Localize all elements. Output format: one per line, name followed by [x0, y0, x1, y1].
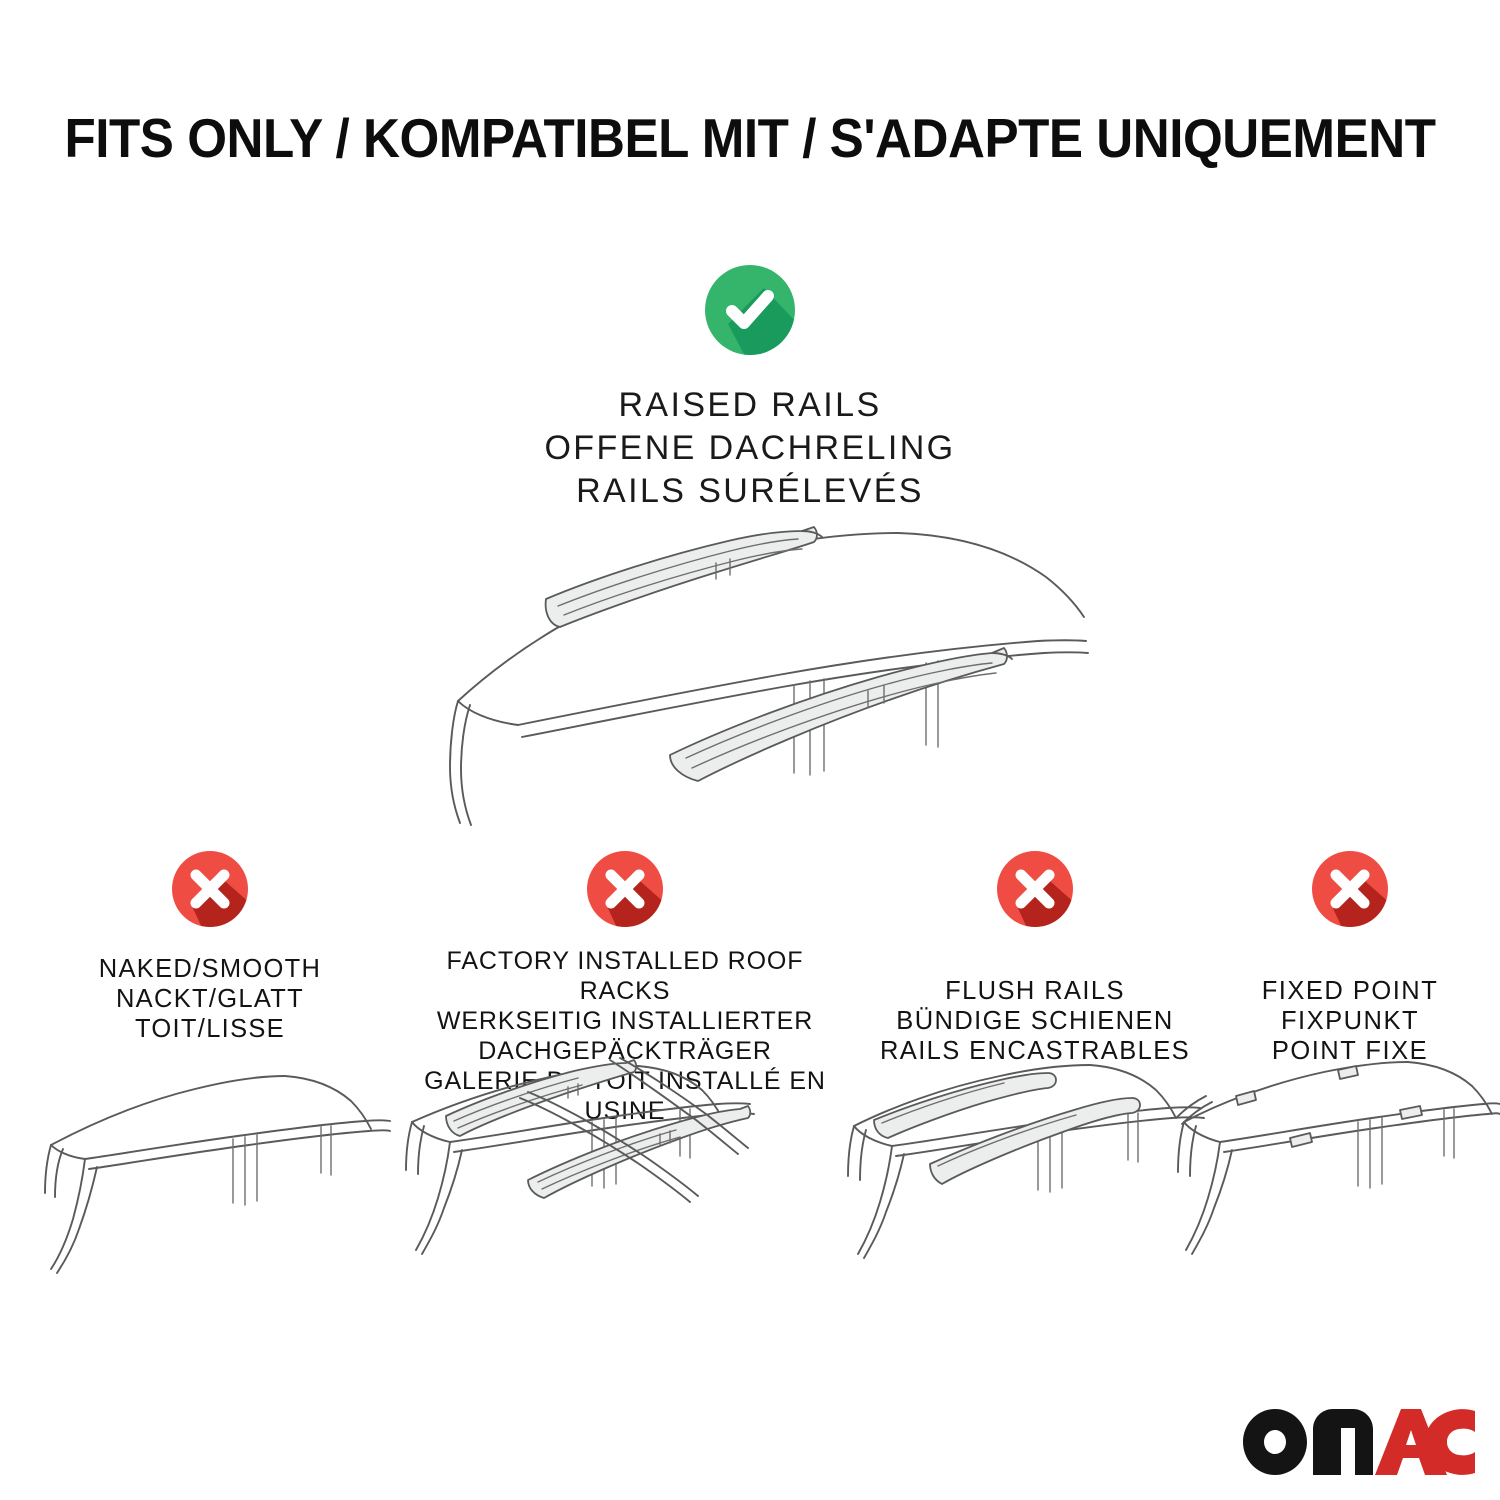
incompatible-label-line: FACTORY INSTALLED ROOF RACKS — [400, 946, 850, 1006]
incompatible-sections: NAKED/SMOOTH NACKT/GLATT TOIT/LISSE FACT… — [0, 848, 1500, 1078]
cross-circle-icon — [169, 848, 251, 930]
car-roof-flush-rails-illustration — [848, 1060, 1213, 1275]
cross-circle-icon — [1309, 848, 1391, 930]
compatible-section: RAISED RAILS OFFENE DACHRELING RAILS SUR… — [0, 262, 1500, 513]
incompatible-labels: NAKED/SMOOTH NACKT/GLATT TOIT/LISSE — [35, 954, 385, 1044]
incompatible-label-line: FIXED POINT — [1215, 976, 1485, 1006]
incompatible-label-line: NACKT/GLATT — [35, 984, 385, 1014]
cross-circle-icon — [584, 848, 666, 930]
incompatible-label-line: FLUSH RAILS — [865, 976, 1205, 1006]
page-title: FITS ONLY / KOMPATIBEL MIT / S'ADAPTE UN… — [53, 106, 1448, 170]
incompatible-labels: FLUSH RAILS BÜNDIGE SCHIENEN RAILS ENCAS… — [865, 976, 1205, 1066]
incompatible-label-line: NAKED/SMOOTH — [35, 954, 385, 984]
incompatible-label-line: BÜNDIGE SCHIENEN — [865, 1006, 1205, 1036]
compatible-labels: RAISED RAILS OFFENE DACHRELING RAILS SUR… — [0, 384, 1500, 513]
incompatible-section-fixed-point: FIXED POINT FIXPUNKT POINT FIXE — [1215, 848, 1485, 1066]
car-roof-fixed-point-illustration — [1178, 1060, 1500, 1275]
incompatible-section-flush-rails: FLUSH RAILS BÜNDIGE SCHIENEN RAILS ENCAS… — [865, 848, 1205, 1066]
car-roof-factory-roof-racks-illustration — [398, 1058, 763, 1273]
omac-logo — [1243, 1409, 1475, 1475]
incompatible-label-line: TOIT/LISSE — [35, 1014, 385, 1044]
incompatible-section-naked-smooth: NAKED/SMOOTH NACKT/GLATT TOIT/LISSE — [35, 848, 385, 1044]
cross-circle-icon — [994, 848, 1076, 930]
car-roof-naked-smooth-illustration — [45, 1063, 390, 1278]
compatible-label-line: OFFENE DACHRELING — [0, 427, 1500, 470]
compatible-label-line: RAISED RAILS — [0, 384, 1500, 427]
car-roof-raised-rails-illustration — [398, 505, 1102, 835]
incompatible-label-line: FIXPUNKT — [1215, 1006, 1485, 1036]
incompatible-label-line: WERKSEITIG INSTALLIERTER — [400, 1006, 850, 1036]
incompatible-labels: FIXED POINT FIXPUNKT POINT FIXE — [1215, 976, 1485, 1066]
check-circle-icon — [702, 262, 798, 358]
